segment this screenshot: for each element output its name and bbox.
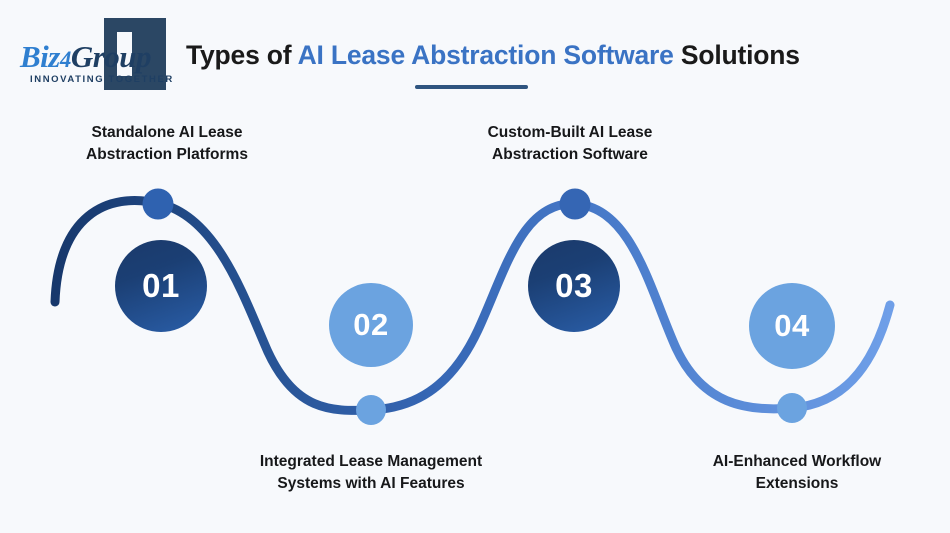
step-label-04-line2: Extensions xyxy=(672,473,922,495)
wave-node-dot-03 xyxy=(560,189,591,220)
step-number-circle-03[interactable]: 03 xyxy=(528,240,620,332)
wave-node-dot-04 xyxy=(777,393,807,423)
wave-node-dot-02 xyxy=(356,395,386,425)
step-label-04-line1: AI-Enhanced Workflow xyxy=(672,451,922,473)
step-label-01-line2: Abstraction Platforms xyxy=(22,144,312,166)
step-label-03-line2: Abstraction Software xyxy=(452,144,688,166)
step-label-02-line2: Systems with AI Features xyxy=(222,473,520,495)
step-label-03-line1: Custom-Built AI Lease xyxy=(452,122,688,144)
step-label-01-line1: Standalone AI Lease xyxy=(22,122,312,144)
infographic-canvas: Biz4Group INNOVATING TOGETHER Types of A… xyxy=(0,0,950,533)
step-number-circle-01[interactable]: 01 xyxy=(115,240,207,332)
step-label-04: AI-Enhanced Workflow Extensions xyxy=(672,451,922,495)
step-label-02: Integrated Lease Management Systems with… xyxy=(222,451,520,495)
wave-node-dot-01 xyxy=(143,189,174,220)
step-label-01: Standalone AI Lease Abstraction Platform… xyxy=(22,122,312,166)
step-label-02-line1: Integrated Lease Management xyxy=(222,451,520,473)
step-label-03: Custom-Built AI Lease Abstraction Softwa… xyxy=(452,122,688,166)
step-number-circle-04[interactable]: 04 xyxy=(749,283,835,369)
step-number-circle-02[interactable]: 02 xyxy=(329,283,413,367)
